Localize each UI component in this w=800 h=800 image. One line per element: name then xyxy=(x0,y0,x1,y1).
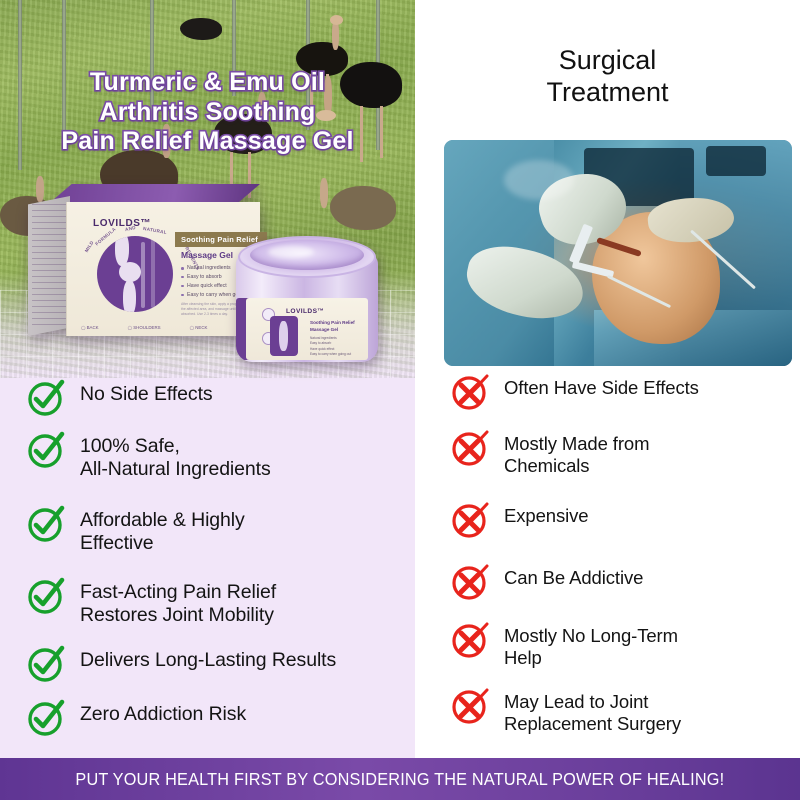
title-line-3: Pain Relief Massage Gel xyxy=(0,127,415,157)
benefit-item: Delivers Long-Lasting Results xyxy=(26,644,336,684)
benefit-text: Fast-Acting Pain Relief Restores Joint M… xyxy=(80,576,276,627)
check-circle-icon xyxy=(26,378,66,418)
drawback-text: Can Be Addictive xyxy=(504,562,643,589)
bottom-banner: PUT YOUR HEALTH FIRST BY CONSIDERING THE… xyxy=(0,758,800,800)
banner-text: PUT YOUR HEALTH FIRST BY CONSIDERING THE… xyxy=(76,769,725,790)
cross-circle-icon xyxy=(450,562,490,602)
benefit-text: 100% Safe, All-Natural Ingredients xyxy=(80,430,271,481)
drawback-line-1: Expensive xyxy=(504,505,588,527)
benefit-line-1: Fast-Acting Pain Relief xyxy=(80,581,276,604)
check-circle-icon xyxy=(26,504,66,544)
right-title: Surgical Treatment xyxy=(415,44,800,109)
jar-subtitle-line-1: Soothing Pain Relief xyxy=(310,320,355,327)
jar-subtitle-line-2: Massage Gel xyxy=(310,327,355,334)
right-title-line-2: Treatment xyxy=(415,76,800,108)
surgery-photo xyxy=(444,140,792,366)
title-line-2: Arthritis Soothing xyxy=(0,98,415,128)
drawback-text: Expensive xyxy=(504,500,588,527)
body-icon-neck: NECK xyxy=(190,325,208,330)
benefit-item: 100% Safe, All-Natural Ingredients xyxy=(26,430,271,481)
body-icon-back: BACK xyxy=(81,325,99,330)
drawback-item: May Lead to Joint Replacement Surgery xyxy=(450,686,681,735)
product-jar: LOVILDS™ Soothing Pain Relief Massage Ge… xyxy=(236,236,378,362)
benefit-item: Fast-Acting Pain Relief Restores Joint M… xyxy=(26,576,276,627)
cross-circle-icon xyxy=(450,620,490,660)
box-body-area-icons: BACK SHOULDERS NECK KNEES xyxy=(81,325,257,330)
jar-bullet-list: Natural ingredients Easy to absorb Have … xyxy=(310,336,351,357)
drawback-line-1: Can Be Addictive xyxy=(504,567,643,589)
benefit-line-1: Affordable & Highly xyxy=(80,509,245,532)
benefit-line-1: No Side Effects xyxy=(80,383,213,406)
benefit-item: No Side Effects xyxy=(26,378,213,418)
benefit-text: No Side Effects xyxy=(80,378,213,406)
benefit-line-1: 100% Safe, xyxy=(80,435,271,458)
cross-circle-icon xyxy=(450,372,490,412)
drawback-item: Mostly Made from Chemicals xyxy=(450,428,649,477)
drawback-text: Mostly No Long-Term Help xyxy=(504,620,678,669)
jar-subtitle: Soothing Pain Relief Massage Gel xyxy=(310,320,355,334)
infographic-page: Turmeric & Emu Oil Arthritis Soothing Pa… xyxy=(0,0,800,800)
drawback-line-2: Help xyxy=(504,647,678,669)
right-title-line-1: Surgical xyxy=(415,44,800,76)
cross-circle-icon xyxy=(450,428,490,468)
benefit-item: Zero Addiction Risk xyxy=(26,698,246,738)
benefit-text: Zero Addiction Risk xyxy=(80,698,246,726)
check-circle-icon xyxy=(26,576,66,616)
product-box: LOVILDS™ MILD FORMULA AND NATURAL INGRED… xyxy=(28,184,260,336)
drawback-text: Often Have Side Effects xyxy=(504,372,699,399)
drawback-item: Expensive xyxy=(450,500,588,540)
body-icon-shoulders: SHOULDERS xyxy=(128,325,161,330)
jar-bullet: Easy to carry when going out xyxy=(310,352,351,357)
benefit-line-1: Zero Addiction Risk xyxy=(80,703,246,726)
drawback-line-1: Often Have Side Effects xyxy=(504,377,699,399)
drawback-item: Mostly No Long-Term Help xyxy=(450,620,678,669)
drawback-line-2: Chemicals xyxy=(504,455,649,477)
jar-label: LOVILDS™ Soothing Pain Relief Massage Ge… xyxy=(246,298,368,360)
benefit-item: Affordable & Highly Effective xyxy=(26,504,245,555)
check-circle-icon xyxy=(26,698,66,738)
benefit-line-2: Restores Joint Mobility xyxy=(80,604,276,627)
drawback-text: Mostly Made from Chemicals xyxy=(504,428,649,477)
benefit-line-2: Effective xyxy=(80,532,245,555)
benefit-line-1: Delivers Long-Lasting Results xyxy=(80,649,336,672)
benefit-text: Affordable & Highly Effective xyxy=(80,504,245,555)
box-front-face: LOVILDS™ MILD FORMULA AND NATURAL INGRED… xyxy=(66,202,260,336)
cross-circle-icon xyxy=(450,500,490,540)
knee-illustration xyxy=(97,236,173,312)
jar-knee-illustration xyxy=(270,316,298,356)
drawback-item: Can Be Addictive xyxy=(450,562,643,602)
jar-gel-surface xyxy=(250,240,364,270)
benefit-text: Delivers Long-Lasting Results xyxy=(80,644,336,672)
drawback-line-1: Mostly Made from xyxy=(504,433,649,455)
cross-circle-icon xyxy=(450,686,490,726)
drawback-text: May Lead to Joint Replacement Surgery xyxy=(504,686,681,735)
title-line-1: Turmeric & Emu Oil xyxy=(0,68,415,98)
box-subtitle: Massage Gel xyxy=(181,250,233,260)
drawback-line-2: Replacement Surgery xyxy=(504,713,681,735)
box-side-face xyxy=(28,196,70,336)
drawback-line-1: May Lead to Joint xyxy=(504,691,681,713)
photo-highlight xyxy=(504,160,574,200)
drawback-line-1: Mostly No Long-Term xyxy=(504,625,678,647)
check-circle-icon xyxy=(26,430,66,470)
background-equipment xyxy=(706,146,766,176)
jar-brand: LOVILDS™ xyxy=(286,308,324,315)
benefit-line-2: All-Natural Ingredients xyxy=(80,458,271,481)
drawback-item: Often Have Side Effects xyxy=(450,372,699,412)
left-title: Turmeric & Emu Oil Arthritis Soothing Pa… xyxy=(0,68,415,157)
check-circle-icon xyxy=(26,644,66,684)
